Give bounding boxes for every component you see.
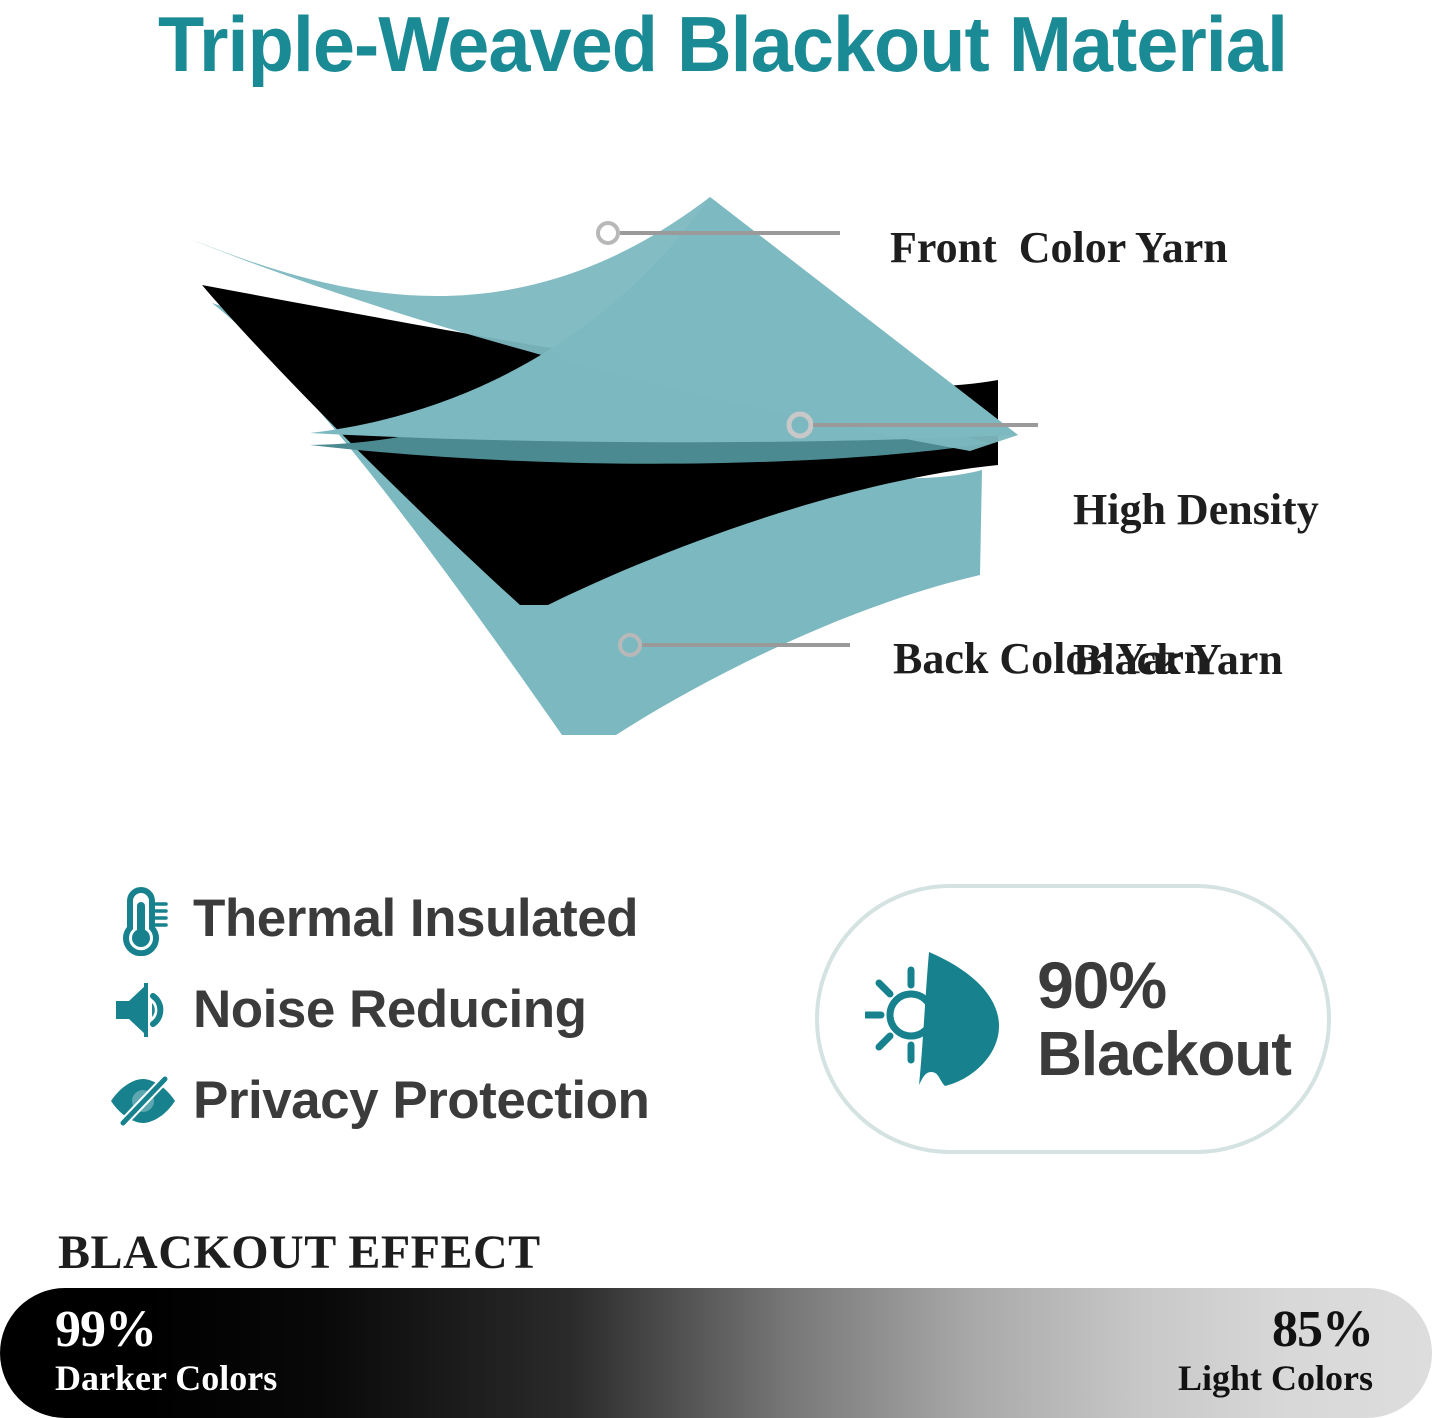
blackout-stat-darker-percent: 99% [55, 1303, 277, 1357]
blackout-effect-heading: BLACKOUT EFFECT [58, 1225, 541, 1280]
feature-label-thermal: Thermal Insulated [193, 888, 638, 949]
circle-marker-front [598, 223, 618, 243]
features-list: Thermal Insulated Noise Reducing Privacy… [103, 874, 763, 1147]
speaker-volume-icon [103, 972, 183, 1048]
feature-item-privacy: Privacy Protection [103, 1056, 763, 1145]
callout-label-high-density-line1: High Density [1073, 485, 1319, 535]
page-title: Triple-Weaved Blackout Material [22, 0, 1424, 92]
feature-label-privacy: Privacy Protection [193, 1070, 649, 1131]
blackout-stat-light-percent: 85% [1178, 1303, 1373, 1357]
sun-blocked-icon [859, 939, 1019, 1099]
blackout-stat-light-caption: Light Colors [1178, 1357, 1373, 1399]
callout-label-back: Back Color Yarn [893, 633, 1208, 685]
callout-label-front: Front Color Yarn [890, 222, 1228, 274]
badge-text-block: 90% Blackout [1037, 952, 1291, 1086]
feature-item-noise: Noise Reducing [103, 965, 763, 1054]
badge-word: Blackout [1037, 1024, 1291, 1086]
blackout-stat-darker-caption: Darker Colors [55, 1357, 277, 1399]
thermometer-icon [103, 881, 183, 957]
blackout-stat-darker: 99% Darker Colors [55, 1303, 277, 1399]
feature-item-thermal: Thermal Insulated [103, 874, 763, 963]
badge-percent: 90% [1037, 952, 1166, 1018]
blackout-badge: 90% Blackout [815, 884, 1331, 1154]
eye-slash-icon [103, 1063, 183, 1139]
feature-label-noise: Noise Reducing [193, 979, 587, 1040]
blackout-stat-light: 85% Light Colors [1178, 1303, 1373, 1399]
